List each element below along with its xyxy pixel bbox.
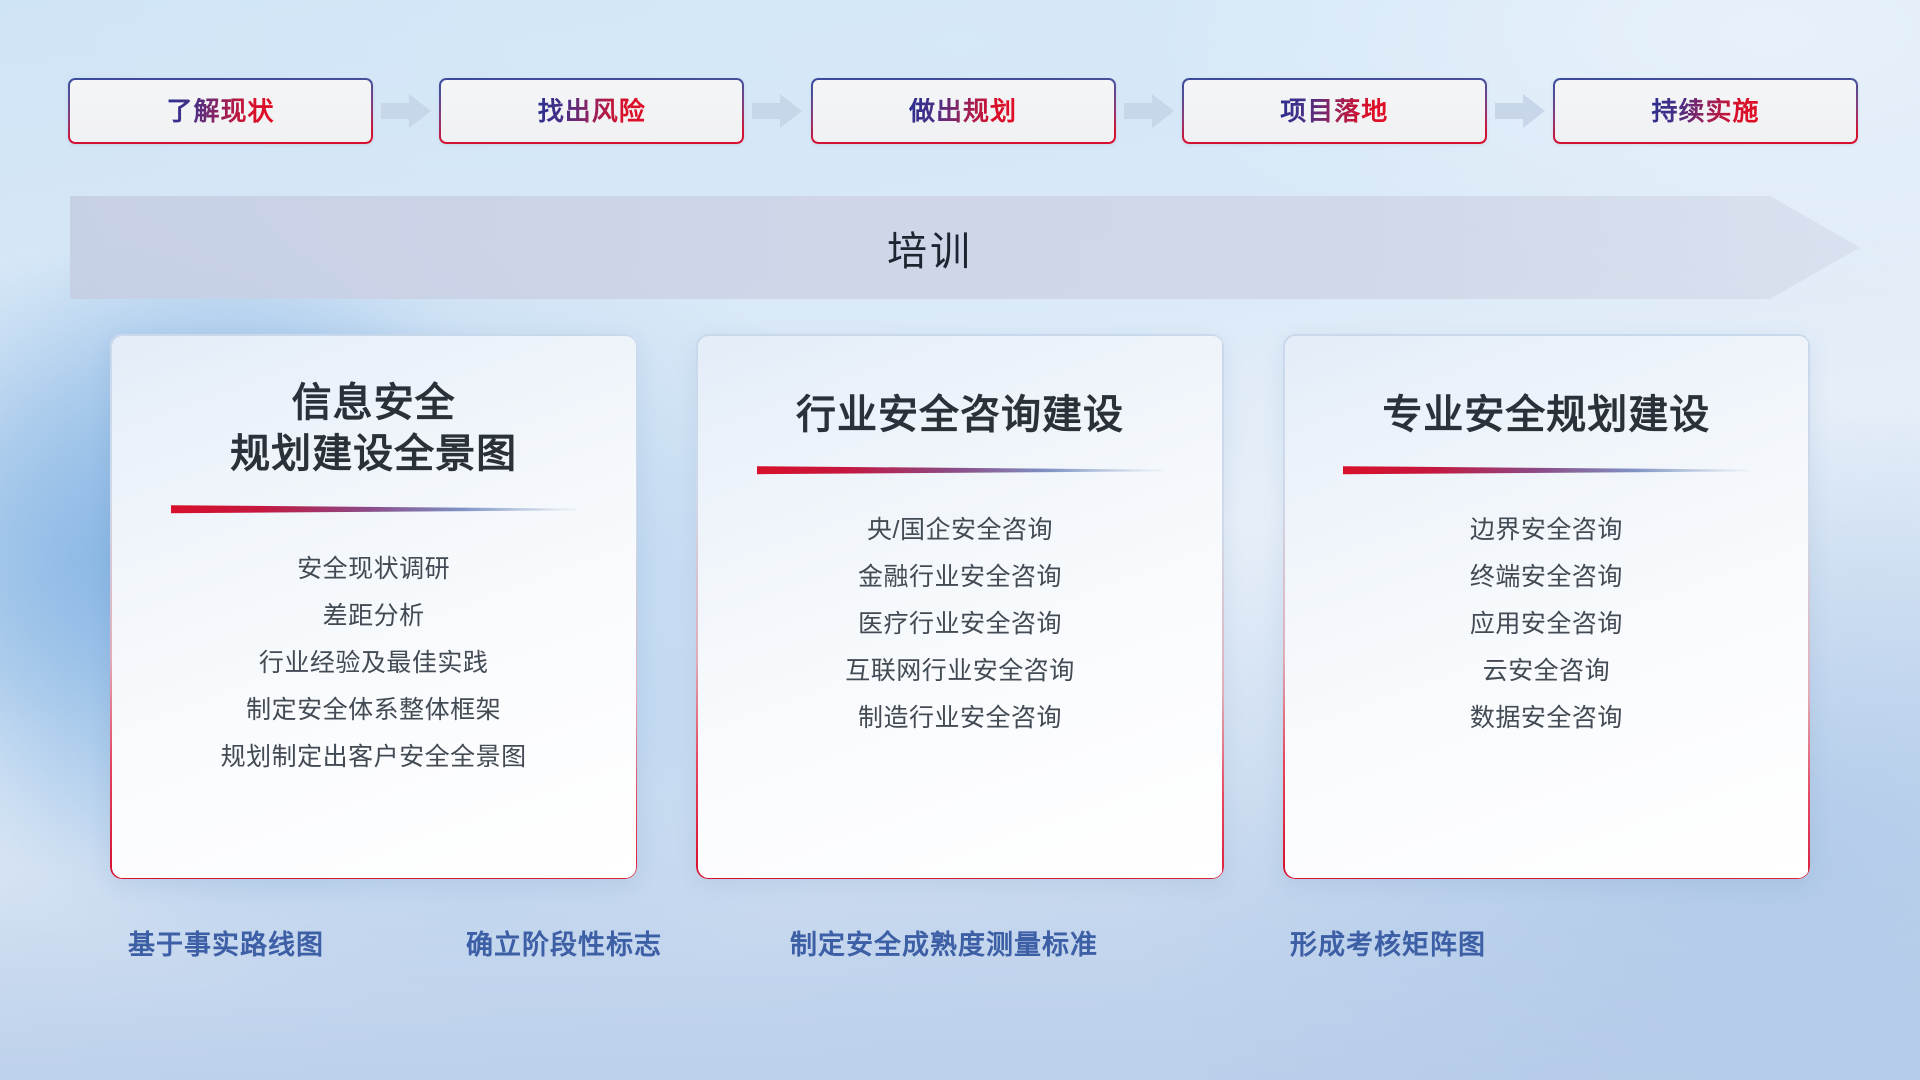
flow-step-label: 找出风险	[538, 98, 646, 124]
training-banner: 培训	[70, 196, 1860, 299]
caption-1: 基于事实路线图	[128, 920, 324, 970]
list-item: 边界安全咨询	[1283, 507, 1810, 554]
caption-2: 确立阶段性标志	[466, 920, 662, 970]
list-item: 安全现状调研	[110, 546, 637, 593]
list-item: 央/国企安全咨询	[696, 507, 1223, 554]
card-professional-security-planning[interactable]: 专业安全规划建设 边界安全咨询 终端安全咨询	[1283, 334, 1810, 879]
flow-step-1[interactable]: 了解现状	[68, 78, 373, 144]
list-item: 金融行业安全咨询	[696, 554, 1223, 601]
list-item: 规划制定出客户安全全景图	[110, 734, 637, 781]
card-title-line: 规划建设全景图	[230, 429, 517, 480]
list-item: 数据安全咨询	[1283, 695, 1810, 742]
card-item-list: 安全现状调研 差距分析 行业经验及最佳实践 制定安全体系整体框架 规划制定出客户…	[110, 546, 637, 781]
card-item-list: 央/国企安全咨询 金融行业安全咨询 医疗行业安全咨询 互联网行业安全咨询 制造行…	[696, 507, 1223, 742]
list-item: 云安全咨询	[1283, 648, 1810, 695]
card-title-line: 专业安全规划建设	[1382, 390, 1710, 441]
caption-4: 形成考核矩阵图	[1290, 920, 1486, 970]
flow-step-3[interactable]: 做出规划	[811, 78, 1116, 144]
cards-row: 信息安全 规划建设全景图 安全现状调研 差	[110, 334, 1810, 879]
card-title-line: 信息安全	[230, 378, 517, 429]
card-divider	[1343, 463, 1749, 477]
process-flow-row: 了解现状 找出风险 做出规划 项目落地 持续实施	[68, 78, 1858, 144]
list-item: 终端安全咨询	[1283, 554, 1810, 601]
card-title: 专业安全规划建设	[1358, 390, 1734, 441]
captions-row: 基于事实路线图 确立阶段性标志 制定安全成熟度测量标准 形成考核矩阵图	[0, 920, 1920, 970]
list-item: 医疗行业安全咨询	[696, 601, 1223, 648]
flow-step-label: 了解现状	[166, 98, 274, 124]
training-banner-label: 培训	[70, 196, 1860, 299]
list-item: 应用安全咨询	[1283, 601, 1810, 648]
list-item: 制定安全体系整体框架	[110, 687, 637, 734]
card-industry-security-consulting[interactable]: 行业安全咨询建设 央/国企安全咨询 金融行业安全咨询	[696, 334, 1223, 879]
arrow-right-icon	[380, 94, 432, 128]
flow-step-2[interactable]: 找出风险	[439, 78, 744, 144]
flow-step-5[interactable]: 持续实施	[1553, 78, 1858, 144]
arrow-right-icon	[751, 94, 803, 128]
flow-step-label: 项目落地	[1280, 98, 1388, 124]
card-title: 行业安全咨询建设	[772, 390, 1148, 441]
list-item: 互联网行业安全咨询	[696, 648, 1223, 695]
card-title: 信息安全 规划建设全景图	[206, 378, 541, 480]
card-divider	[757, 463, 1163, 477]
card-item-list: 边界安全咨询 终端安全咨询 应用安全咨询 云安全咨询 数据安全咨询	[1283, 507, 1810, 742]
flow-step-label: 持续实施	[1651, 98, 1759, 124]
list-item: 行业经验及最佳实践	[110, 640, 637, 687]
arrow-right-icon	[1494, 94, 1546, 128]
flow-step-4[interactable]: 项目落地	[1182, 78, 1487, 144]
card-divider	[171, 502, 577, 516]
card-information-security-blueprint[interactable]: 信息安全 规划建设全景图 安全现状调研 差	[110, 334, 637, 879]
list-item: 差距分析	[110, 593, 637, 640]
arrow-right-icon	[1123, 94, 1175, 128]
list-item: 制造行业安全咨询	[696, 695, 1223, 742]
caption-3: 制定安全成熟度测量标准	[790, 920, 1098, 970]
flow-step-label: 做出规划	[909, 98, 1017, 124]
card-title-line: 行业安全咨询建设	[796, 390, 1124, 441]
